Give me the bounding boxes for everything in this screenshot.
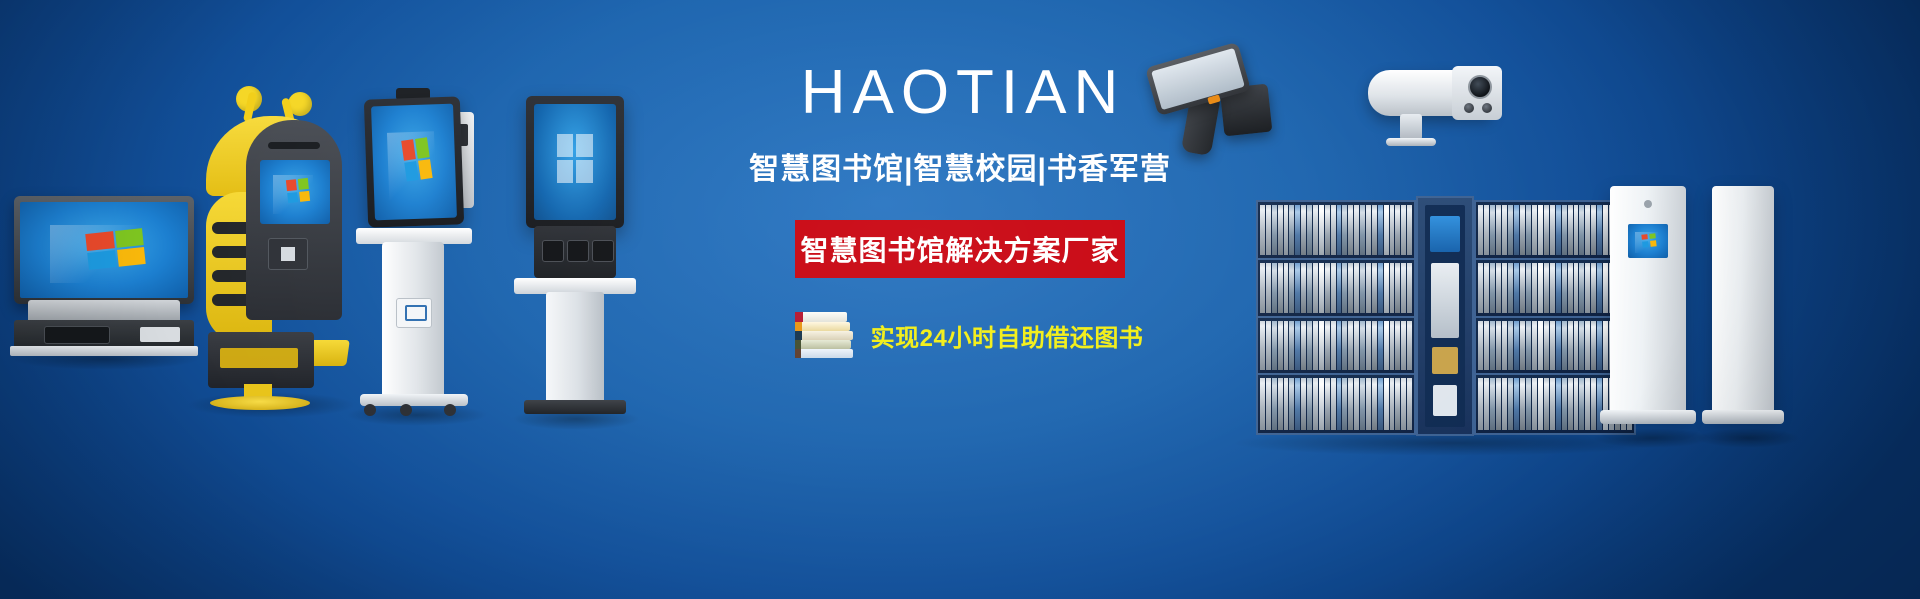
book-slot: [268, 142, 320, 149]
product-rfid-handheld-reader: [1150, 48, 1290, 166]
book-spines: [1478, 321, 1632, 371]
caster-wheel: [444, 404, 456, 416]
shelf-row: [1258, 202, 1414, 260]
fingerprint-reader-icon: [567, 240, 589, 262]
card-reader-icon: [542, 240, 564, 262]
totem-base-plate: [1600, 410, 1696, 424]
totem-column: [1610, 186, 1686, 414]
book-spines: [1478, 205, 1632, 255]
windows-7-screen: [1628, 224, 1668, 258]
totem-base-plate: [1702, 410, 1784, 424]
terminal-base: [28, 300, 180, 322]
windows-logo-icon: [285, 178, 310, 203]
camera-front-housing: [1452, 66, 1502, 120]
shelf-control-panel: [1425, 205, 1465, 427]
ir-led: [1482, 103, 1492, 113]
bee-pedestal-base: [210, 396, 310, 410]
panel-tray: [1433, 385, 1457, 416]
windows-10-screen: [534, 104, 616, 220]
product-standing-totem-kiosk-1: [1610, 186, 1686, 436]
red-highlight-badge: 智慧图书馆解决方案厂家: [795, 220, 1125, 278]
red-badge-label: 智慧图书馆解决方案厂家: [800, 229, 1119, 269]
kiosk-screen-housing: [364, 96, 464, 227]
windows-7-screen: [371, 104, 457, 221]
windows-logo-icon: [85, 228, 146, 270]
book-spines: [1260, 378, 1412, 430]
windows-logo-icon: [401, 137, 433, 181]
ir-led: [1464, 103, 1474, 113]
bee-front-panel: [246, 120, 342, 320]
totem-column: [1712, 186, 1774, 414]
tagline-row: 实现24小时自助借还图书: [640, 312, 1280, 358]
product-standing-totem-kiosk-2: [1712, 186, 1774, 436]
book-spines: [1260, 263, 1412, 313]
shelf-row: [1258, 318, 1414, 376]
terminal-monitor: [14, 196, 194, 304]
kiosk-screen-housing: [526, 96, 624, 228]
windows-logo-icon: [557, 134, 593, 183]
product-bullet-security-camera: [1360, 52, 1520, 148]
kiosk-pedestal: [382, 242, 444, 398]
book-spines: [1260, 321, 1412, 371]
kiosk-reader-module: [534, 226, 616, 278]
terminal-foot: [10, 346, 198, 356]
bee-lower-cabinet: [208, 332, 314, 388]
camera-mount-base: [1386, 138, 1436, 146]
rfid-reader-pad: [268, 238, 308, 270]
caster-wheel: [364, 404, 376, 416]
qr-scanner-icon: [592, 240, 614, 262]
windows-7-screen: [20, 202, 188, 298]
book-stack-icon: [795, 312, 857, 358]
book-spines: [1260, 205, 1412, 255]
product-face-recognition-kiosk: [520, 96, 630, 418]
promo-banner: HAOTIAN 智慧图书馆|智慧校园|书香军营 智慧图书馆解决方案厂家 实现24…: [0, 0, 1920, 599]
rfid-tag-label-icon: [396, 298, 432, 328]
windows-logo-icon: [1642, 233, 1657, 247]
product-yellow-bee-kiosk: [188, 92, 348, 408]
kiosk-base-plate: [524, 400, 626, 414]
product-rfid-smart-bookshelf-left: [1256, 200, 1416, 435]
product-white-self-service-kiosk: [352, 88, 476, 416]
tagline-label: 实现24小时自助借还图书: [871, 318, 1144, 353]
camera-icon: [1644, 200, 1652, 208]
panel-keypad: [1432, 347, 1458, 374]
panel-display: [1430, 216, 1460, 252]
panel-reader-area: [1431, 263, 1460, 338]
id-card-slot: [140, 327, 180, 342]
camera-mount-arm: [1400, 114, 1422, 140]
caster-wheel: [400, 404, 412, 416]
windows-7-screen: [260, 160, 330, 224]
bee-label-plate: [220, 348, 298, 368]
book-spines: [1478, 263, 1632, 313]
card-reader-pad: [44, 326, 110, 344]
product-desktop-self-service-terminal: [8, 196, 200, 346]
kiosk-pedestal: [546, 292, 604, 404]
product-rfid-smart-bookshelf-center: [1416, 196, 1474, 436]
shelf-row: [1258, 375, 1414, 433]
shelf-row: [1258, 260, 1414, 318]
camera-lens-icon: [1468, 75, 1492, 99]
